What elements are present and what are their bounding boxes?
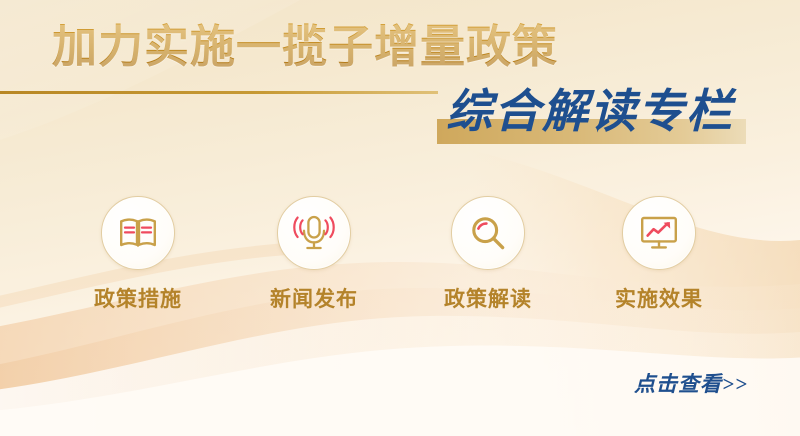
icon-circle — [277, 196, 351, 270]
open-book-icon — [118, 216, 158, 250]
banner-title-secondary: 综合解读专栏 — [446, 84, 734, 140]
click-to-view-link[interactable]: 点击查看>> — [634, 368, 748, 398]
icon-nav-row: 政策措施 — [0, 196, 800, 326]
nav-item-label: 新闻发布 — [244, 283, 384, 313]
nav-item-policy-measures[interactable]: 政策措施 — [68, 196, 208, 313]
gold-divider-rule — [0, 91, 438, 94]
nav-item-policy-interpretation[interactable]: 政策解读 — [418, 196, 558, 313]
nav-item-label: 政策解读 — [418, 283, 558, 313]
banner-title-primary: 加力实施一揽子增量政策 — [52, 20, 558, 74]
microphone-icon — [293, 214, 335, 252]
icon-circle — [622, 196, 696, 270]
magnifier-icon — [469, 214, 507, 252]
chart-monitor-icon — [639, 215, 679, 251]
icon-circle — [451, 196, 525, 270]
nav-item-label: 实施效果 — [589, 283, 729, 313]
policy-banner: 加力实施一揽子增量政策 综合解读专栏 — [0, 0, 800, 436]
icon-circle — [101, 196, 175, 270]
nav-item-label: 政策措施 — [68, 283, 208, 313]
nav-item-implementation-effect[interactable]: 实施效果 — [589, 196, 729, 313]
nav-item-news-release[interactable]: 新闻发布 — [244, 196, 384, 313]
